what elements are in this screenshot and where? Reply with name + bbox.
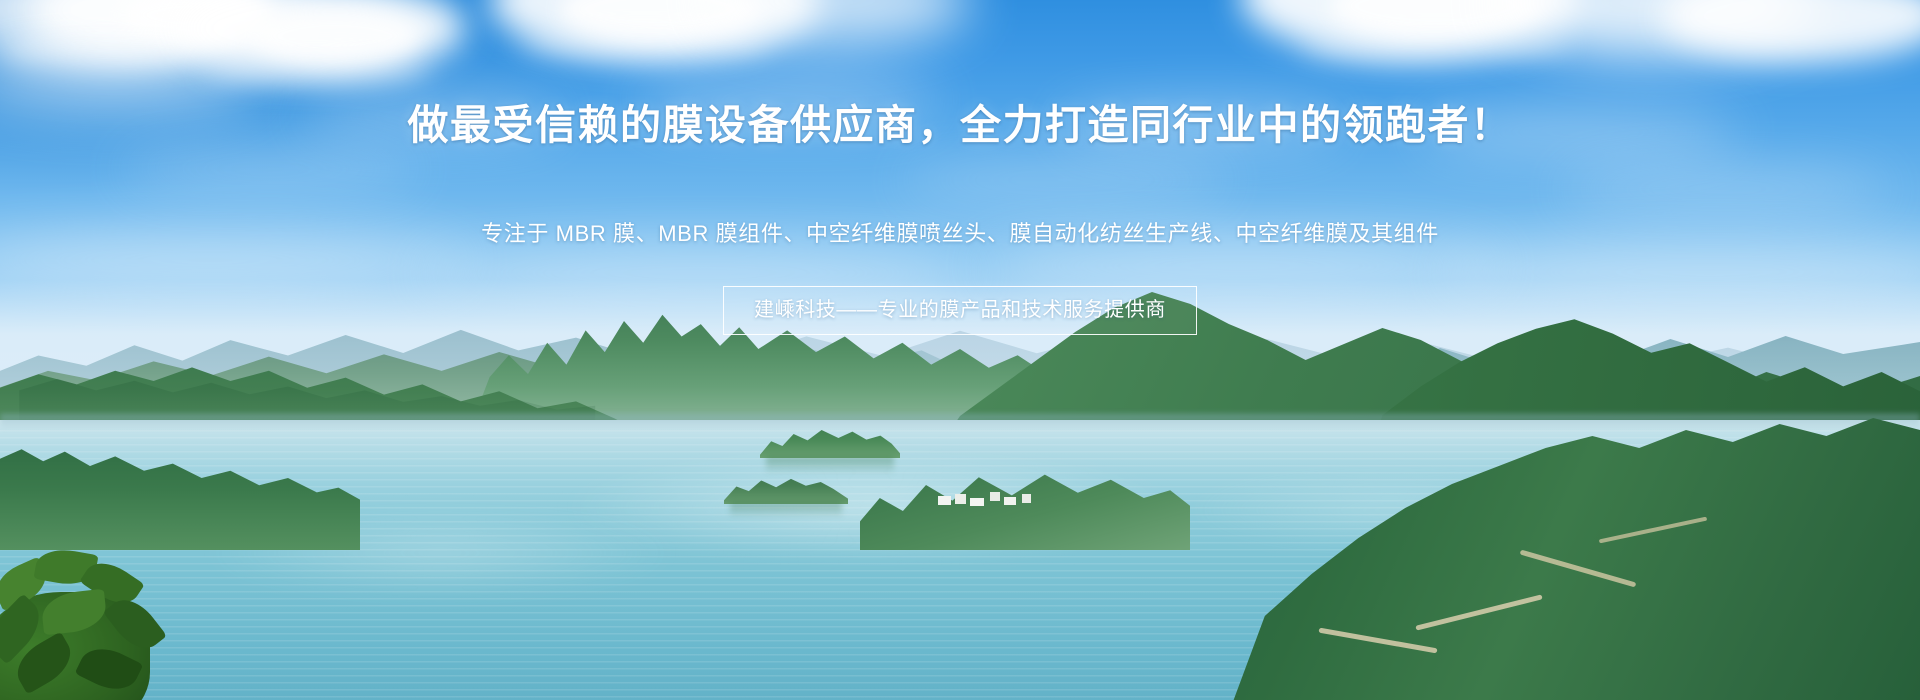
banner-tagline-box: 建嵊科技——专业的膜产品和技术服务提供商 xyxy=(723,286,1197,335)
island-center-lower-reflection xyxy=(730,502,842,518)
shoreline-far xyxy=(0,414,1920,430)
island-center-reflection xyxy=(766,456,894,474)
mountain-road xyxy=(1318,470,1738,700)
banner-tagline-wrap: 建嵊科技——专业的膜产品和技术服务提供商 xyxy=(0,286,1920,335)
foreground-foliage xyxy=(0,532,220,700)
banner-subline: 专注于 MBR 膜、MBR 膜组件、中空纤维膜喷丝头、膜自动化纺丝生产线、中空纤… xyxy=(0,219,1920,249)
banner-headline: 做最受信赖的膜设备供应商，全力打造同行业中的领跑者！ xyxy=(0,101,1920,149)
hero-banner: 做最受信赖的膜设备供应商，全力打造同行业中的领跑者！ 专注于 MBR 膜、MBR… xyxy=(0,0,1920,700)
